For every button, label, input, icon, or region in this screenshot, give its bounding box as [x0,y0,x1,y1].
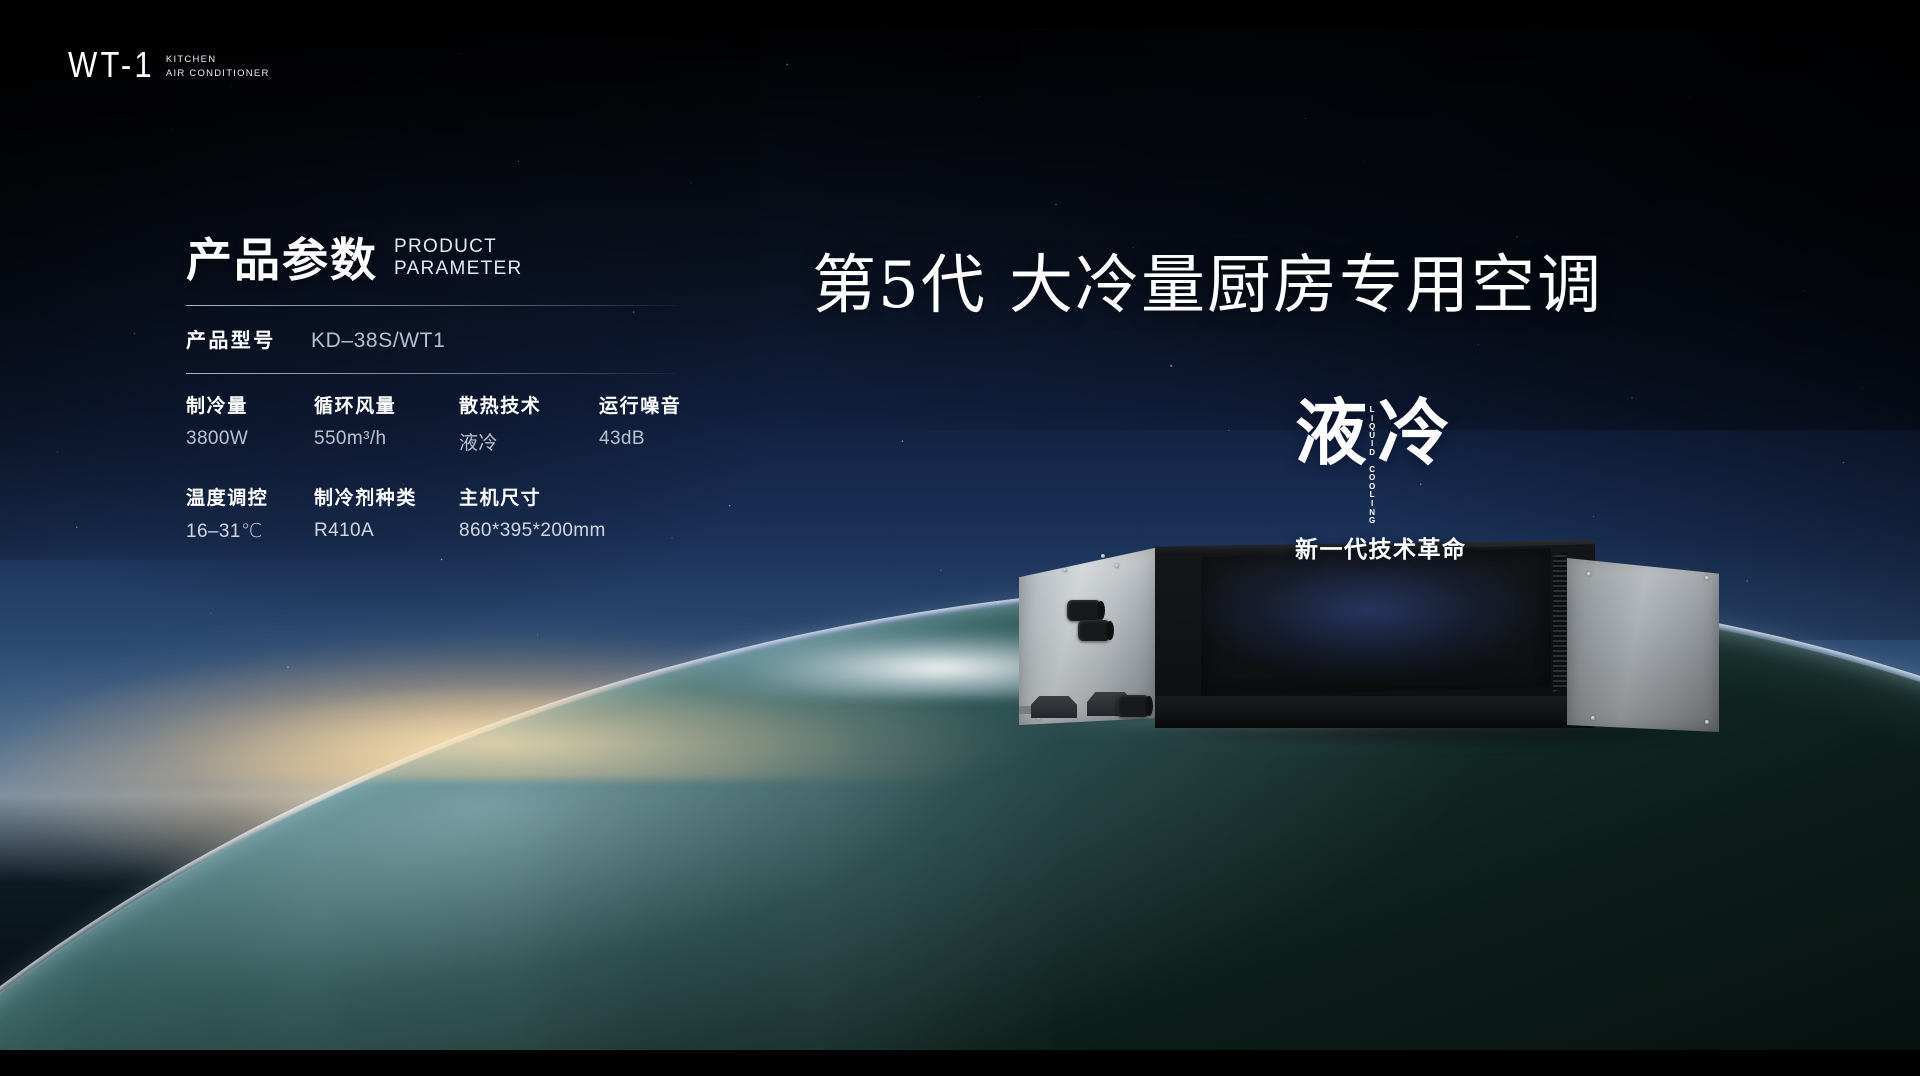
spec-label: 散热技术 [459,395,599,418]
spec-value: 16–31℃ [186,520,314,543]
page-title-en-line1: PRODUCT [394,236,523,258]
spec-label: 循环风量 [314,395,459,418]
divider-bottom [186,373,676,374]
spec-value: 3800W [186,428,314,450]
liquid-cooling-vertical-letter: G [1369,517,1376,526]
spec-value: 液冷 [459,428,599,455]
spec-label: 主机尺寸 [459,487,606,510]
ac-pipe-port-upper [1067,600,1101,621]
hero-headline: 第5代 大冷量厨房专用空调 [812,254,1603,318]
brand-wordmark: WT-1 [68,46,155,83]
page-title-en-line2: PARAMETER [394,258,523,280]
liquid-cooling-char-ye: 液 [1295,398,1367,469]
spec-value: 550m³/h [314,428,459,450]
ac-panel-screw [1705,576,1709,580]
brand-subtitle: KITCHEN AIR CONDITIONER [166,54,270,83]
ac-blue-fin-grille [1201,548,1551,696]
spec-row-1: 制冷量 3800W 循环风量 550m³/h 散热技术 液冷 运行噪音 43dB [186,395,686,455]
ac-right-end-panel [1567,558,1719,732]
spec-cell-cooling-capacity: 制冷量 3800W [186,395,314,455]
ac-base-plinth [1155,696,1595,728]
ac-panel-screw [1115,564,1119,568]
panel-header: 产品参数 PRODUCT PARAMETER [186,236,686,283]
liquid-cooling-tagline: 新一代技术革命 [1295,530,1467,564]
brand-logo: WT-1 KITCHEN AIR CONDITIONER [68,52,270,83]
liquid-cooling-logo: 液 L I Q U I D C O O L I N G 冷 新一代技术革命 [1295,398,1467,564]
liquid-cooling-char-leng: 冷 [1378,398,1450,469]
ac-panel-screw [1591,716,1595,720]
spec-cell-cooling-technology: 散热技术 液冷 [459,395,599,455]
divider-top [186,305,676,306]
spec-label: 制冷剂种类 [314,487,459,510]
letterbox-bar-top [0,0,1920,28]
spec-cell-operating-noise: 运行噪音 43dB [599,395,681,455]
ac-panel-screw [1587,572,1591,576]
letterbox-bar-bottom [0,1050,1920,1076]
model-label: 产品型号 [186,324,311,353]
spec-cell-unit-dimensions: 主机尺寸 860*395*200mm [459,487,606,543]
spec-value: 860*395*200mm [459,520,606,542]
ac-mounting-bracket [1031,696,1077,718]
liquid-cooling-vertical-text: L I Q U I D C O O L I N G [1369,402,1376,526]
ac-pipe-port-lower [1078,620,1110,641]
poster-stage: WT-1 KITCHEN AIR CONDITIONER 产品参数 PRODUC… [0,0,1920,1076]
spec-row-2: 温度调控 16–31℃ 制冷剂种类 R410A 主机尺寸 860*395*200… [186,487,686,543]
model-value: KD–38S/WT1 [311,329,445,353]
brand-subtitle-line2: AIR CONDITIONER [166,68,270,80]
page-title: 产品参数 [186,237,378,283]
spec-cell-temperature-range: 温度调控 16–31℃ [186,487,314,543]
spec-label: 温度调控 [186,487,314,510]
spec-value: 43dB [599,428,681,450]
ac-panel-screw [1705,720,1709,724]
model-row: 产品型号 KD–38S/WT1 [186,324,686,353]
ac-panel-screw [1063,568,1067,572]
spec-label: 制冷量 [186,395,314,418]
brand-subtitle-line1: KITCHEN [166,54,270,66]
ac-drain-port [1117,695,1149,717]
ac-panel-screw [1101,554,1105,558]
page-title-english: PRODUCT PARAMETER [394,236,523,283]
spec-cell-air-volume: 循环风量 550m³/h [314,395,459,455]
spec-value: R410A [314,520,459,542]
spec-label: 运行噪音 [599,395,681,418]
spec-cell-refrigerant-type: 制冷剂种类 R410A [314,487,459,543]
liquid-cooling-logo-main: 液 L I Q U I D C O O L I N G 冷 [1295,398,1467,526]
product-parameter-panel: 产品参数 PRODUCT PARAMETER 产品型号 KD–38S/WT1 制… [186,236,686,543]
ac-side-vent-strip [1553,552,1567,692]
